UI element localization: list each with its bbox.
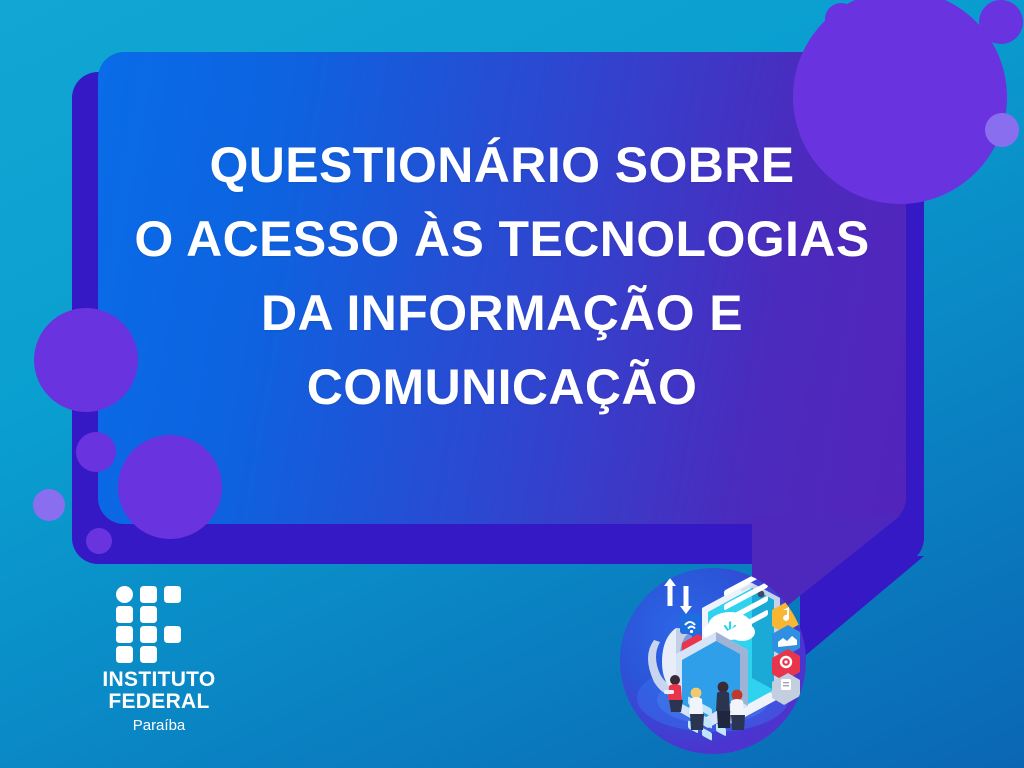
circle-left-bottom-tiny bbox=[86, 528, 112, 554]
ifpb-logo: INSTITUTO FEDERAL Paraíba bbox=[74, 586, 244, 736]
circle-top-right-tiny bbox=[825, 3, 857, 35]
logo-cell-r4c2 bbox=[140, 646, 157, 663]
slide-canvas: QUESTIONÁRIO SOBRE O ACESSO ÀS TECNOLOGI… bbox=[0, 0, 1024, 768]
page-title: QUESTIONÁRIO SOBRE O ACESSO ÀS TECNOLOGI… bbox=[98, 128, 906, 424]
logo-cell-r1c3 bbox=[164, 586, 181, 603]
sync-arrows-icon bbox=[664, 578, 692, 614]
logo-cell-r2c2 bbox=[140, 606, 157, 623]
logo-campus-label: Paraíba bbox=[74, 716, 244, 736]
circle-right-edge-light bbox=[985, 113, 1019, 147]
logo-cell-r2c1 bbox=[116, 606, 133, 623]
circle-top-right-large bbox=[793, 0, 1007, 204]
circle-top-right-small bbox=[979, 0, 1023, 44]
illustration-svg bbox=[620, 568, 806, 754]
circle-left-upper bbox=[34, 308, 138, 412]
logo-cell-r1c1-circle bbox=[116, 586, 133, 603]
wifi-icon bbox=[680, 614, 700, 634]
logo-cell-r3c2 bbox=[140, 626, 157, 643]
circle-left-large bbox=[118, 435, 222, 539]
title-line-2: O ACESSO ÀS TECNOLOGIAS bbox=[98, 202, 906, 276]
circle-left-mid-small bbox=[76, 432, 116, 472]
isometric-ict-illustration bbox=[620, 568, 806, 754]
title-line-3: DA INFORMAÇÃO E bbox=[98, 276, 906, 350]
logo-cell-r1c2 bbox=[140, 586, 157, 603]
logo-institution-name: INSTITUTO FEDERAL bbox=[74, 669, 244, 713]
logo-name-line-1: INSTITUTO bbox=[74, 669, 244, 691]
circle-left-light-small bbox=[33, 489, 65, 521]
title-line-4: COMUNICAÇÃO bbox=[98, 350, 906, 424]
logo-cell-r3c3 bbox=[164, 626, 181, 643]
logo-cell-r4c1 bbox=[116, 646, 133, 663]
logo-name-line-2: FEDERAL bbox=[74, 691, 244, 713]
title-line-1: QUESTIONÁRIO SOBRE bbox=[98, 128, 906, 202]
logo-cell-r3c1 bbox=[116, 626, 133, 643]
ifpb-grid-mark-icon bbox=[116, 586, 182, 662]
